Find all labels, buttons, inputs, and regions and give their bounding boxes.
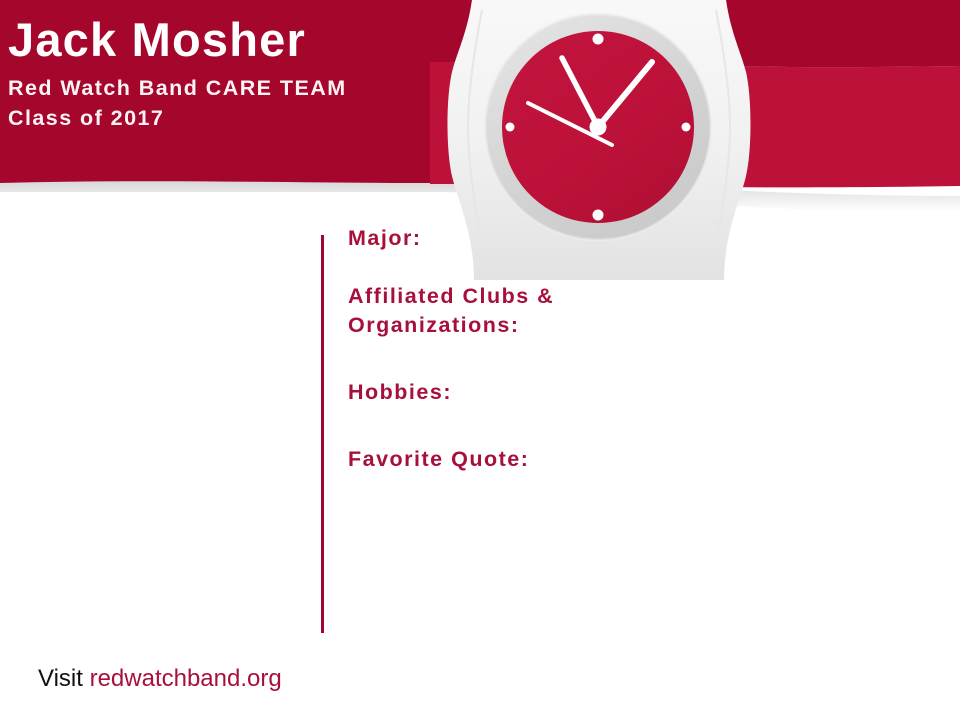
footer: Visit redwatchband.org — [38, 667, 282, 691]
footer-visit-label: Visit — [38, 665, 83, 692]
field-label-favorite-quote: Favorite Quote: — [348, 445, 768, 475]
watch-marker-6 — [593, 210, 604, 221]
field-label-affiliated-clubs-organizations: Affiliated Clubs & Organizations: — [348, 282, 768, 341]
watch-strap — [430, 62, 960, 187]
watch-face — [502, 31, 694, 223]
header-text-block: Jack Mosher Red Watch Band CARE TEAM Cla… — [8, 14, 478, 134]
slide-canvas: Jack Mosher Red Watch Band CARE TEAM Cla… — [0, 0, 960, 720]
header-subtitle-team: Red Watch Band CARE TEAM — [8, 73, 478, 104]
watch-marker-9 — [506, 123, 515, 132]
header-subtitle-class: Class of 2017 — [8, 103, 478, 134]
watch-center-hub — [590, 119, 607, 136]
field-label-hobbies: Hobbies: — [348, 378, 768, 408]
watch-hour-hand — [598, 62, 652, 127]
watch-case-contour-right — [716, 10, 730, 244]
watch-second-hand — [528, 103, 612, 145]
watch-bezel-highlight — [485, 14, 711, 240]
watch-marker-3 — [682, 123, 691, 132]
profile-field-list: Major: Affiliated Clubs & Organizations:… — [348, 224, 768, 502]
banner-drop-shadow — [0, 176, 960, 212]
page-title: Jack Mosher — [8, 14, 478, 67]
watch-marker-12 — [593, 34, 604, 45]
field-label-major: Major: — [348, 224, 768, 254]
content-divider — [321, 235, 324, 633]
watch-bezel — [485, 14, 711, 240]
footer-website-link[interactable]: redwatchband.org — [90, 665, 282, 692]
watch-minute-hand — [562, 58, 598, 127]
